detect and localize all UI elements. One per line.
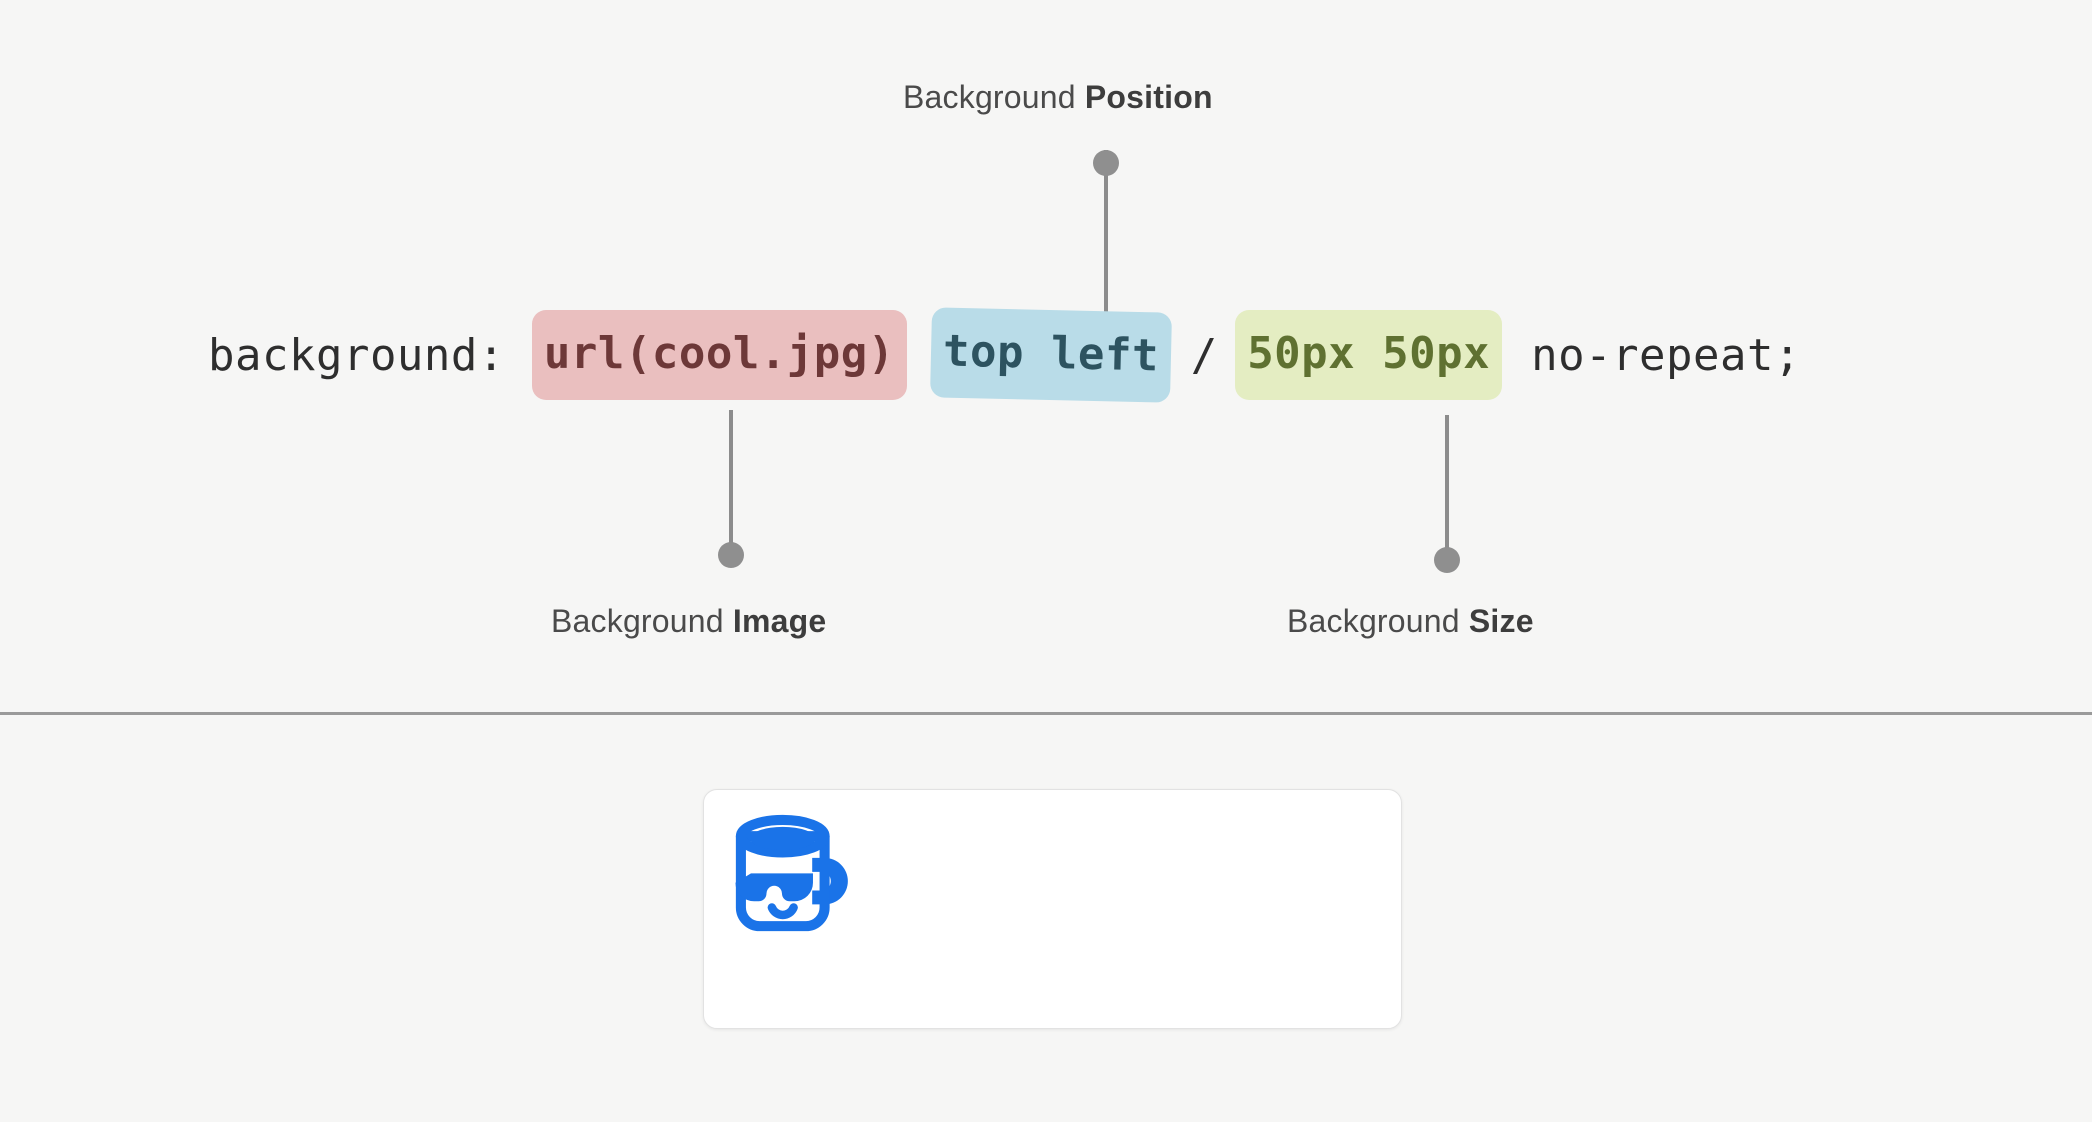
css-value-background-repeat: no-repeat; [1504,330,1801,381]
annotation-prefix: Background [551,603,733,639]
connector-dot [1434,547,1460,573]
connector-line [729,410,733,555]
illustration-canvas: Background Position background: url(cool… [0,0,2092,1122]
connector-dot [718,542,744,568]
background-demo-panel [703,789,1402,1029]
connector-dot [1093,150,1119,176]
css-value-background-image: url(cool.jpg) [532,310,907,400]
annotation-prefix: Background [903,79,1085,115]
annotation-label-background-image: Background Image [551,603,826,640]
css-property-name: background: [208,330,532,381]
annotation-emphasis: Size [1469,603,1534,639]
annotation-label-background-size: Background Size [1287,603,1534,640]
css-value-background-size: 50px 50px [1235,310,1502,400]
css-value-separator: / [1191,330,1218,381]
css-value-background-position: top left [930,307,1172,402]
connector-line [1445,415,1449,560]
css-declaration: background: url(cool.jpg)top left/50px 5… [208,320,1801,390]
annotation-emphasis: Image [733,603,826,639]
annotation-prefix: Background [1287,603,1469,639]
section-divider [0,712,2092,715]
cool-mug-icon [713,799,868,954]
annotation-emphasis: Position [1085,79,1213,115]
annotation-label-background-position: Background Position [903,79,1213,116]
